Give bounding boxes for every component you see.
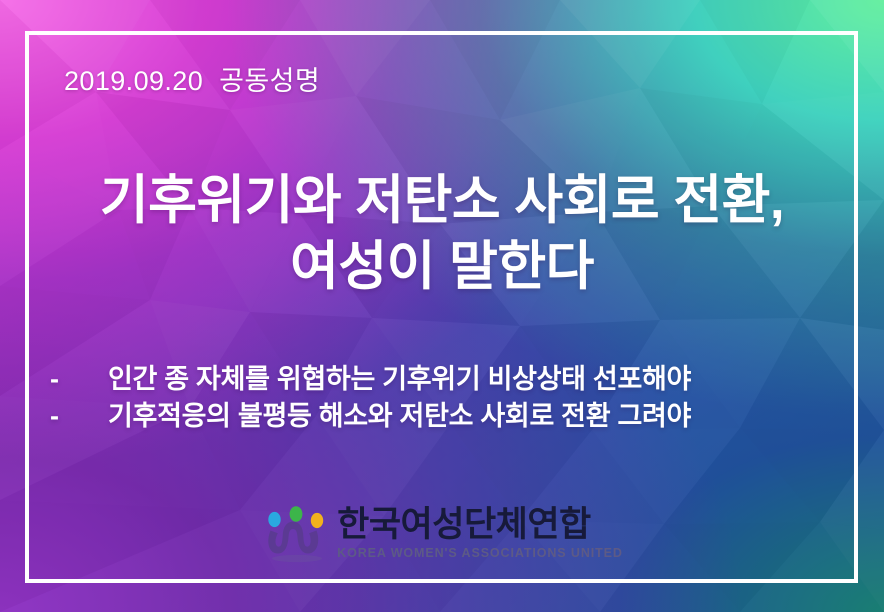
poster-content: 2019.09.20공동성명 기후위기와 저탄소 사회로 전환, 여성이 말한다…: [0, 0, 884, 612]
bullet-dash-icon: -: [50, 364, 108, 395]
logo-name-english: KOREA WOMEN'S ASSOCIATIONS UNITED: [337, 545, 623, 561]
list-item: - 인간 종 자체를 위협하는 기후위기 비상상태 선포해야: [50, 357, 840, 394]
date-and-doctype-line: 2019.09.20공동성명: [64, 59, 320, 98]
title-line-2: 여성이 말한다: [0, 234, 884, 300]
title-line-1: 기후위기와 저탄소 사회로 전환,: [0, 168, 884, 234]
bullet-text: 인간 종 자체를 위협하는 기후위기 비상상태 선포해야: [108, 357, 691, 396]
kwau-swoosh-logo-icon: [261, 503, 329, 565]
organization-logo: 한국여성단체연합 KOREA WOMEN'S ASSOCIATIONS UNIT…: [0, 503, 884, 565]
bullet-dash-icon: -: [50, 401, 108, 432]
document-type-label: 공동성명: [219, 66, 320, 96]
bullet-text: 기후적응의 불평등 해소와 저탄소 사회로 전환 그려야: [108, 394, 691, 433]
page-title: 기후위기와 저탄소 사회로 전환, 여성이 말한다: [0, 168, 884, 300]
publish-date: 2019.09.20: [64, 66, 203, 96]
logo-name-korean: 한국여성단체연합: [337, 506, 623, 544]
poster-canvas: 2019.09.20공동성명 기후위기와 저탄소 사회로 전환, 여성이 말한다…: [0, 0, 884, 612]
logo-wordmark: 한국여성단체연합 KOREA WOMEN'S ASSOCIATIONS UNIT…: [337, 503, 623, 561]
bullet-list: - 인간 종 자체를 위협하는 기후위기 비상상태 선포해야 - 기후적응의 불…: [50, 357, 840, 431]
list-item: - 기후적응의 불평등 해소와 저탄소 사회로 전환 그려야: [50, 394, 840, 431]
